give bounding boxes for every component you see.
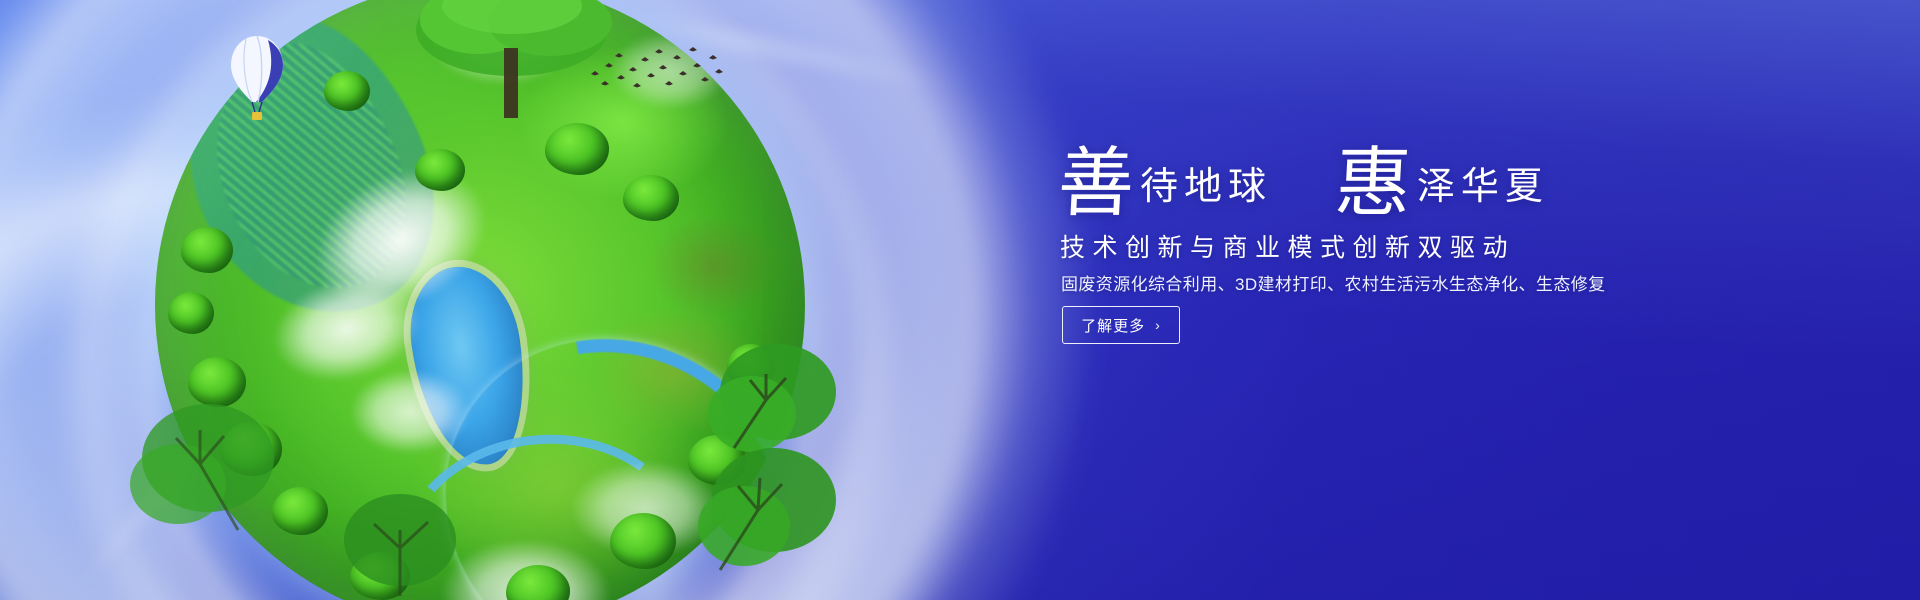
hero-banner: 善待地球 惠泽华夏 技术创新与商业模式创新双驱动 固废资源化综合利用、3D建材打… [0,0,1920,600]
bird-flock-icon [585,44,725,96]
tree-clump [545,123,609,175]
headline-phrase-2: 惠泽华夏 [1335,140,1549,216]
headline-phrase-1: 善待地球 [1058,140,1272,216]
tree-clump [272,487,328,535]
hero-description: 固废资源化综合利用、3D建材打印、农村生活污水生态净化、生态修复 [1061,270,1606,295]
headline-big-char-2: 惠 [1333,146,1413,222]
hero-content: 善待地球 惠泽华夏 技术创新与商业模式创新双驱动 固废资源化综合利用、3D建材打… [1058,0,1758,600]
hot-air-balloon-icon [228,34,286,130]
hero-subtitle: 技术创新与商业模式创新双驱动 [1060,228,1515,264]
learn-more-label: 了解更多 [1081,315,1145,336]
tree-clump [506,565,570,600]
tree-clump [350,552,410,600]
headline-small-text-2: 泽华夏 [1417,168,1549,206]
hero-headline: 善待地球 惠泽华夏 [1058,140,1549,216]
tree-clump [727,344,775,388]
tree-clump [188,357,246,407]
learn-more-button[interactable]: 了解更多 › [1062,306,1180,344]
tree-clump [688,435,746,485]
tree-clump [324,71,370,111]
tree-clump [623,175,679,221]
tree-clump [168,292,214,334]
chevron-right-icon: › [1155,318,1161,332]
headline-small-text-1: 待地球 [1140,168,1272,206]
headline-big-char-1: 善 [1056,146,1136,222]
tree-clump [220,422,282,476]
tree-clump [415,149,465,191]
tree-clump [610,513,676,569]
tree-clump [181,227,233,273]
